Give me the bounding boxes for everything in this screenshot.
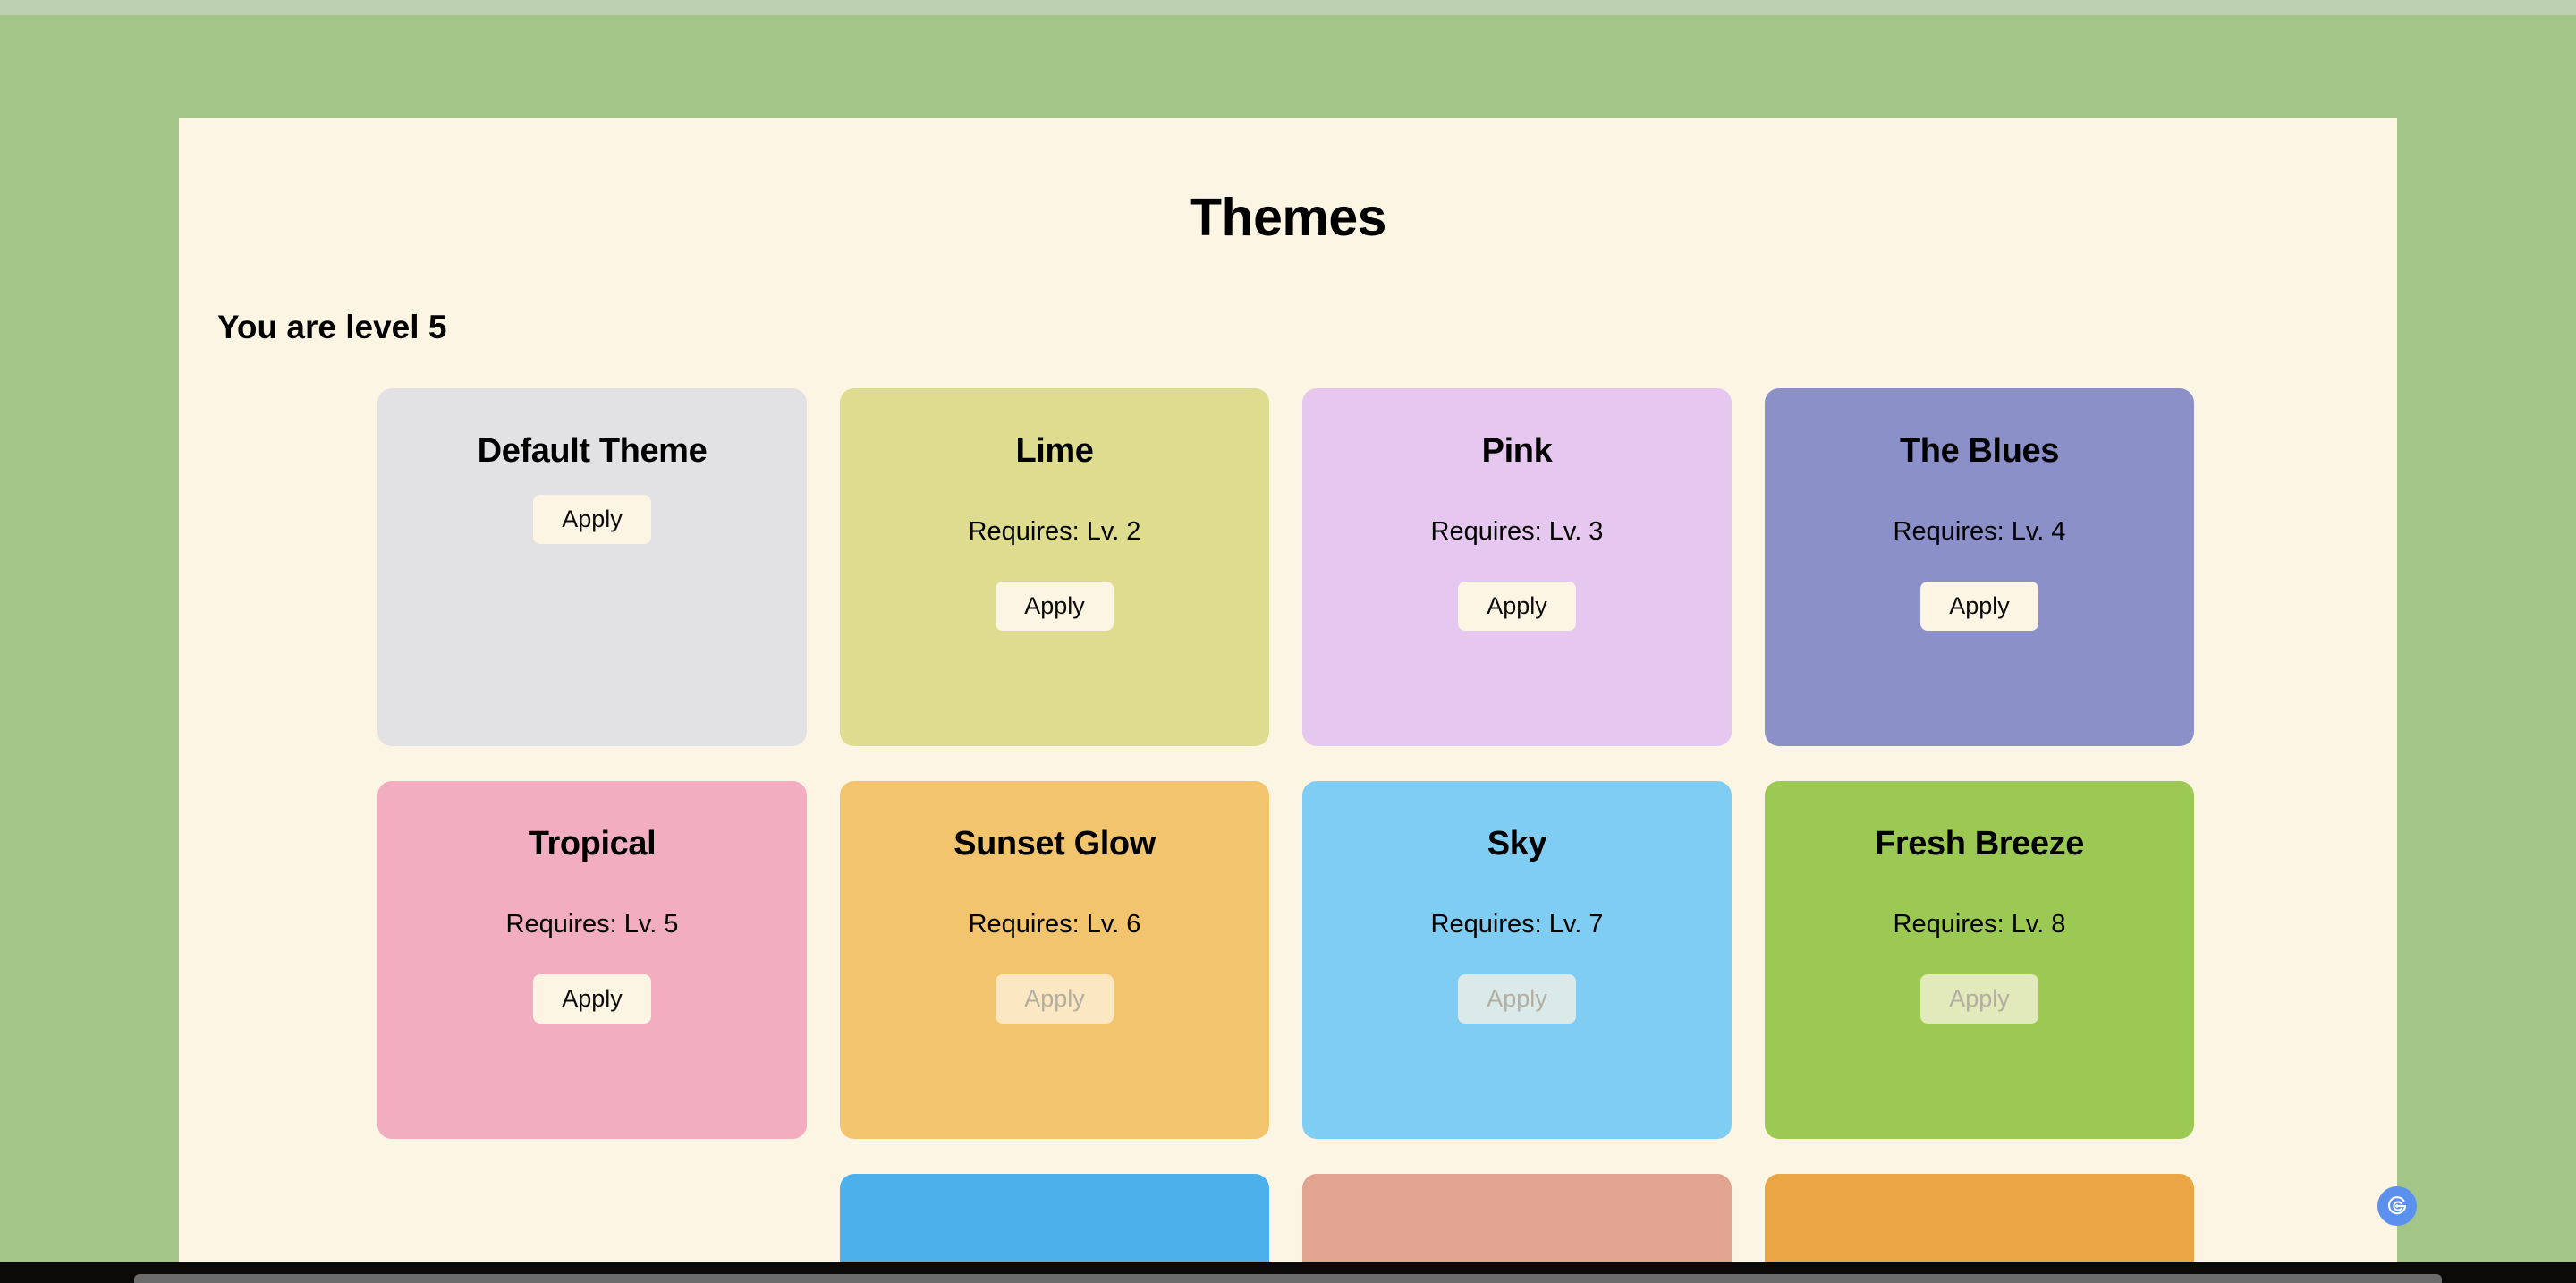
themes-panel: Themes You are level 5 Default Theme App… xyxy=(179,118,2397,1276)
theme-card-tropical[interactable]: Tropical Requires: Lv. 5 Apply xyxy=(377,781,807,1139)
spiral-g-icon xyxy=(2384,1193,2411,1219)
apply-button: Apply xyxy=(1920,974,2038,1024)
assistant-logo-badge[interactable] xyxy=(2377,1186,2417,1226)
apply-button[interactable]: Apply xyxy=(533,974,651,1024)
theme-grid: Default Theme Apply Lime Requires: Lv. 2… xyxy=(377,388,2199,1139)
theme-name: Pink xyxy=(1482,433,1553,471)
desktop-background: Themes You are level 5 Default Theme App… xyxy=(0,15,2576,1262)
theme-requirement: Requires: Lv. 6 xyxy=(969,912,1141,938)
apply-button[interactable]: Apply xyxy=(1458,582,1576,631)
screen-bottom-bar xyxy=(134,1274,2442,1283)
theme-name: Fresh Breeze xyxy=(1875,826,2084,863)
apply-button[interactable]: Apply xyxy=(533,495,651,544)
theme-name: Tropical xyxy=(529,826,657,863)
page-title: Themes xyxy=(179,191,2397,244)
theme-card-fresh-breeze[interactable]: Fresh Breeze Requires: Lv. 8 Apply xyxy=(1765,781,2194,1139)
theme-card-partial-orange[interactable] xyxy=(1765,1174,2194,1276)
theme-requirement: Requires: Lv. 4 xyxy=(1894,519,2066,545)
theme-grid-next-row xyxy=(377,1174,2199,1276)
theme-requirement: Requires: Lv. 3 xyxy=(1431,519,1604,545)
theme-card-sky[interactable]: Sky Requires: Lv. 7 Apply xyxy=(1302,781,1732,1139)
theme-card-partial-blue[interactable] xyxy=(840,1174,1269,1276)
theme-name: Sky xyxy=(1487,826,1546,863)
theme-requirement: Requires: Lv. 8 xyxy=(1894,912,2066,938)
theme-requirement: Requires: Lv. 2 xyxy=(969,519,1141,545)
apply-button[interactable]: Apply xyxy=(1920,582,2038,631)
theme-name: Sunset Glow xyxy=(953,826,1156,863)
theme-card-partial-empty xyxy=(377,1174,807,1276)
apply-button: Apply xyxy=(1458,974,1576,1024)
theme-card-the-blues[interactable]: The Blues Requires: Lv. 4 Apply xyxy=(1765,388,2194,746)
theme-requirement: Requires: Lv. 7 xyxy=(1431,912,1604,938)
theme-card-default-theme[interactable]: Default Theme Apply xyxy=(377,388,807,746)
user-level-text: You are level 5 xyxy=(217,310,2397,344)
theme-card-sunset-glow[interactable]: Sunset Glow Requires: Lv. 6 Apply xyxy=(840,781,1269,1139)
theme-card-lime[interactable]: Lime Requires: Lv. 2 Apply xyxy=(840,388,1269,746)
theme-requirement: Requires: Lv. 5 xyxy=(506,912,679,938)
theme-name: Default Theme xyxy=(478,433,708,471)
theme-card-pink[interactable]: Pink Requires: Lv. 3 Apply xyxy=(1302,388,1732,746)
apply-button: Apply xyxy=(996,974,1114,1024)
theme-name: Lime xyxy=(1015,433,1093,471)
theme-name: The Blues xyxy=(1900,433,2059,471)
apply-button[interactable]: Apply xyxy=(996,582,1114,631)
theme-card-partial-salmon[interactable] xyxy=(1302,1174,1732,1276)
screen-top-strip xyxy=(0,0,2576,15)
